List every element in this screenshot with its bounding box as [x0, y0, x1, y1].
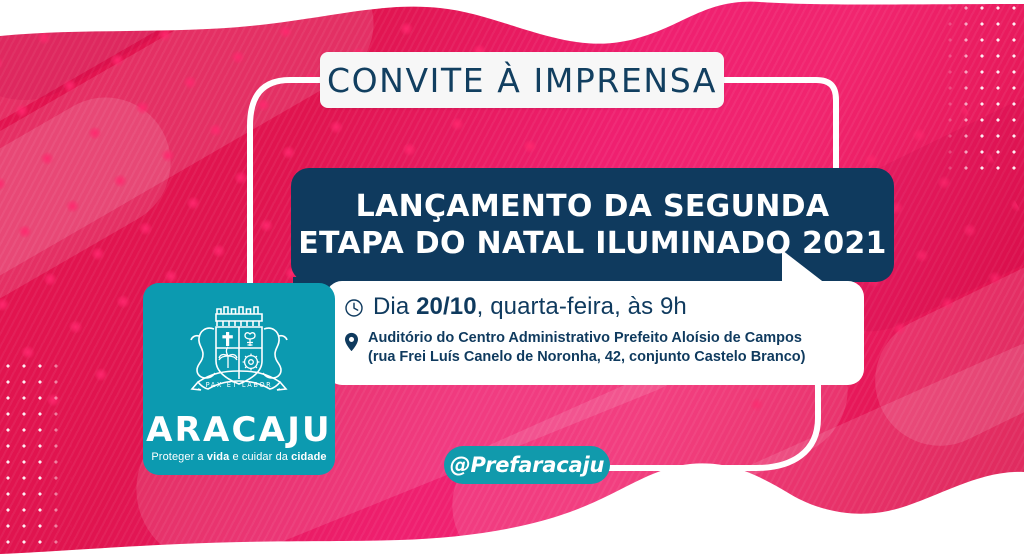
event-place-row: Auditório do Centro Administrativo Prefe… [326, 329, 864, 366]
dot-grid-bottom-left [0, 358, 72, 554]
event-date-day: 20/10 [416, 293, 477, 320]
clock-icon [344, 298, 364, 318]
aracaju-coat-of-arms-icon: PAX ET LABOR [176, 298, 302, 407]
headline-line-1: LANÇAMENTO DA SEGUNDA [356, 189, 830, 224]
aracaju-tagline: Proteger a vida e cuidar da cidade [151, 451, 326, 463]
crest-motto: PAX ET LABOR [206, 381, 273, 389]
event-details-card-tail [782, 250, 826, 284]
poster-canvas: CONVITE À IMPRENSA LANÇAMENTO DA SEGUNDA… [0, 0, 1024, 554]
social-handle-pill[interactable]: @Prefaracaju [444, 446, 610, 484]
tagline-part-1: Proteger a [151, 451, 207, 463]
event-date-row: Dia 20/10, quarta-feira, às 9h [326, 293, 864, 321]
tagline-part-4: cidade [291, 451, 326, 463]
event-date-prefix: Dia [373, 293, 416, 320]
aracaju-logo-block: PAX ET LABOR ARACAJU Proteger a vida e c… [143, 283, 335, 475]
tagline-part-3: e cuidar da [229, 451, 291, 463]
social-handle-label: @Prefaracaju [450, 453, 605, 477]
tagline-part-2: vida [207, 451, 229, 463]
press-invite-banner: CONVITE À IMPRENSA [320, 52, 724, 108]
event-date-suffix: , quarta-feira, às 9h [477, 293, 687, 320]
event-details-card: Dia 20/10, quarta-feira, às 9h Auditório… [326, 281, 864, 385]
dot-grid-top-right [942, 0, 1024, 178]
event-place-line-1: Auditório do Centro Administrativo Prefe… [368, 329, 805, 348]
map-pin-icon [344, 332, 359, 352]
event-date-text: Dia 20/10, quarta-feira, às 9h [373, 293, 687, 321]
event-place-lines: Auditório do Centro Administrativo Prefe… [368, 329, 805, 366]
event-place-line-2: (rua Frei Luís Canelo de Noronha, 42, co… [368, 348, 805, 367]
aracaju-wordmark: ARACAJU [146, 410, 332, 450]
press-invite-banner-label: CONVITE À IMPRENSA [327, 61, 717, 100]
